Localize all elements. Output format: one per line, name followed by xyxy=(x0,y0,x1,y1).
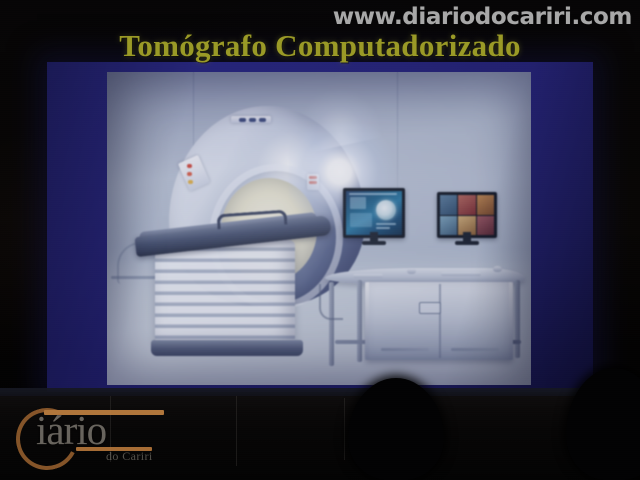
wall-panel-seam xyxy=(344,398,345,460)
gantry-indicator xyxy=(239,118,246,122)
thumbnail-image xyxy=(477,216,494,236)
ct-slice-image xyxy=(376,200,396,220)
gantry-indicator xyxy=(187,172,192,176)
gantry-control-strip xyxy=(178,155,210,191)
monitor-right xyxy=(437,192,497,238)
gantry-warning-dot xyxy=(309,176,317,179)
computer-mouse xyxy=(493,266,502,272)
wall-panel-seam xyxy=(236,396,237,466)
cabinet-edge xyxy=(365,282,369,360)
patient-table-foot xyxy=(151,340,303,356)
monitor-left-bezel xyxy=(343,188,405,238)
gantry-indicator xyxy=(188,180,193,184)
site-watermark: www.diariodocariri.com xyxy=(333,4,632,30)
keyboard xyxy=(353,274,383,278)
logo-subtitle: do Cariri xyxy=(106,449,153,464)
cabinet-vent xyxy=(451,348,499,351)
patient-table-base xyxy=(155,240,295,344)
ct-ui-bar xyxy=(376,223,396,225)
ct-ui-bar xyxy=(376,227,390,229)
logo-wordmark: iário xyxy=(36,410,106,451)
cabinet-door-split xyxy=(439,284,441,358)
monitor-left-neck xyxy=(370,232,378,241)
cabinet-edge xyxy=(509,282,513,360)
thumbnail-image xyxy=(458,195,475,215)
ct-ui-panel xyxy=(350,213,372,227)
thumbnail-image xyxy=(477,195,494,215)
ct-ui-panel xyxy=(350,197,366,209)
monitor-left-base xyxy=(362,241,386,245)
desk-cable xyxy=(319,284,343,320)
monitor-left xyxy=(343,188,405,238)
monitor-right-screen xyxy=(440,195,494,235)
gantry-indicator xyxy=(249,118,256,122)
thumbnail-image xyxy=(440,216,457,236)
cabinet-handle xyxy=(419,302,441,314)
ct-ui-bar xyxy=(349,193,397,195)
monitor-right-base xyxy=(455,241,479,245)
keyboard xyxy=(441,272,481,276)
thumbnail-image xyxy=(440,195,457,215)
gantry-warning-dot xyxy=(309,181,317,184)
cabinet-vent xyxy=(381,348,429,351)
page-title: Tomógrafo Computadorizado xyxy=(47,28,593,64)
gantry-indicator xyxy=(259,118,266,122)
operator-desk-leg xyxy=(357,280,362,362)
gantry-indicator xyxy=(187,164,192,168)
operator-desk-leg xyxy=(515,280,520,358)
diario-do-cariri-logo: iário do Cariri xyxy=(14,404,192,466)
slide-photo xyxy=(107,72,531,385)
ct-computer-cabinet xyxy=(365,282,513,360)
screenshot-canvas: Tomógrafo Computadorizado www.diariodoca… xyxy=(0,0,640,480)
monitor-right-neck xyxy=(463,232,471,241)
computer-mouse xyxy=(407,268,416,274)
projection-screen xyxy=(47,62,593,392)
monitor-left-screen xyxy=(346,191,402,235)
